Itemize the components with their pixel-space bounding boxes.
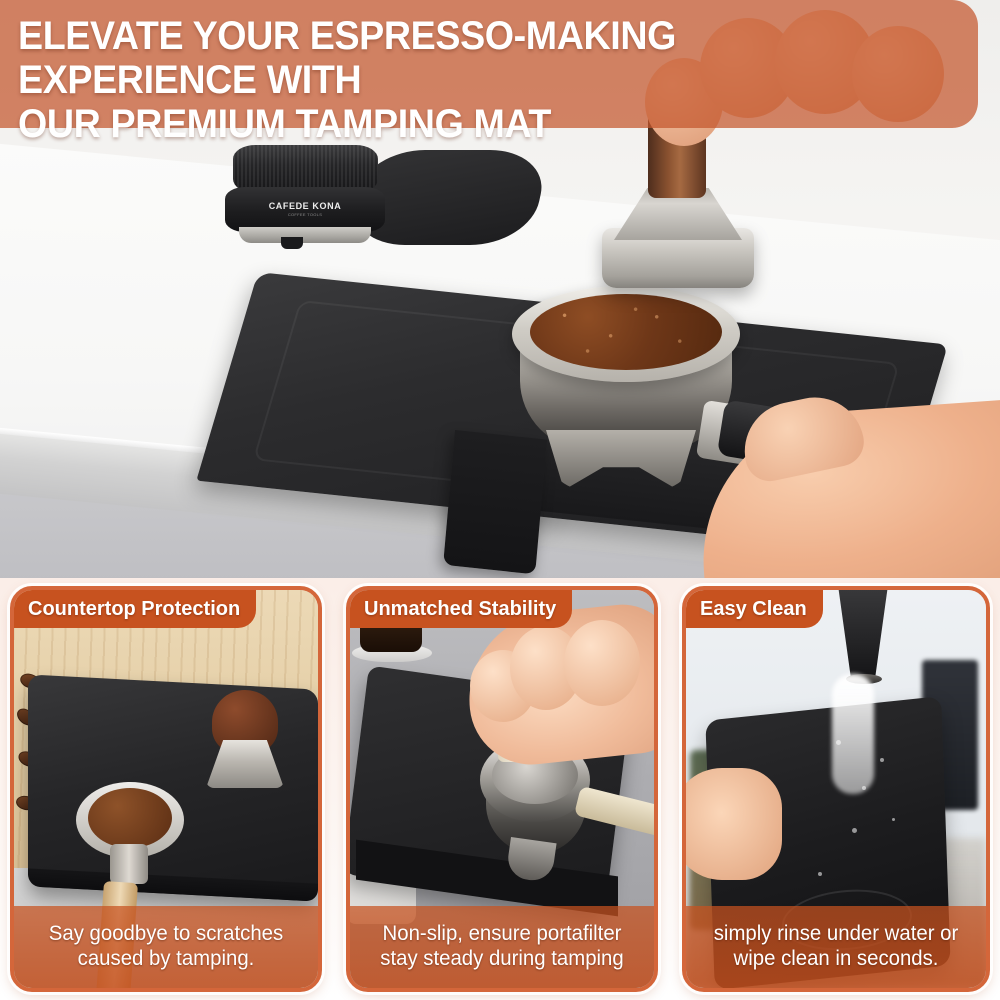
panel-caption-bar: Non-slip, ensure portafilter stay steady… xyxy=(350,906,654,988)
page-title-line-1: ELEVATE YOUR ESPRESSO-MAKING EXPERIENCE … xyxy=(18,14,911,102)
distributor-notch xyxy=(281,237,303,249)
page-title-line-2: OUR PREMIUM TAMPING MAT xyxy=(18,102,911,146)
coffee-grounds xyxy=(530,294,722,370)
product-marketing-image: CAFEDE KONA COFFEE TOOLS ELEVA xyxy=(0,0,1000,1000)
feature-panel-unmatched-stability: Unmatched Stability Non-slip, ensure por… xyxy=(346,586,658,992)
water-droplet xyxy=(862,786,866,790)
distributor-knurled-top xyxy=(233,145,378,193)
panel-1-coffee-grounds xyxy=(88,788,172,848)
panel-caption-text: Say goodbye to scratches caused by tampi… xyxy=(26,922,305,972)
panel-3-hand xyxy=(686,768,782,880)
panel-caption-bar: simply rinse under water or wipe clean i… xyxy=(686,906,986,988)
panel-title-badge: Easy Clean xyxy=(686,590,823,628)
page-title: ELEVATE YOUR ESPRESSO-MAKING EXPERIENCE … xyxy=(18,14,911,146)
water-droplet xyxy=(880,758,884,762)
panel-caption-text: Non-slip, ensure portafilter stay steady… xyxy=(362,922,641,972)
panel-caption-text: simply rinse under water or wipe clean i… xyxy=(698,922,973,972)
panel-title-badge: Countertop Protection xyxy=(14,590,256,628)
panel-title-badge: Unmatched Stability xyxy=(350,590,572,628)
feature-panel-row: Countertop Protection Say goodbye to scr… xyxy=(0,578,1000,1000)
tamping-mat-counter-lip xyxy=(443,430,547,574)
water-droplet xyxy=(818,872,822,876)
water-droplet xyxy=(892,818,895,821)
feature-panel-countertop-protection: Countertop Protection Say goodbye to scr… xyxy=(10,586,322,992)
water-droplet xyxy=(836,740,841,745)
hero-photo: CAFEDE KONA COFFEE TOOLS ELEVA xyxy=(0,0,1000,578)
panel-caption-bar: Say goodbye to scratches caused by tampi… xyxy=(14,906,318,988)
water-droplet xyxy=(852,828,857,833)
brand-label: CAFEDE KONA xyxy=(225,201,385,211)
panel-1-portafilter-neck xyxy=(110,844,148,884)
coffee-distributor-tool: CAFEDE KONA COFFEE TOOLS xyxy=(225,145,385,240)
brand-sublabel: COFFEE TOOLS xyxy=(225,212,385,217)
distributor-steel-base xyxy=(239,227,371,243)
feature-panel-easy-clean: Easy Clean simply rinse under water or w… xyxy=(682,586,990,992)
panel-2-finger-3 xyxy=(564,620,640,706)
